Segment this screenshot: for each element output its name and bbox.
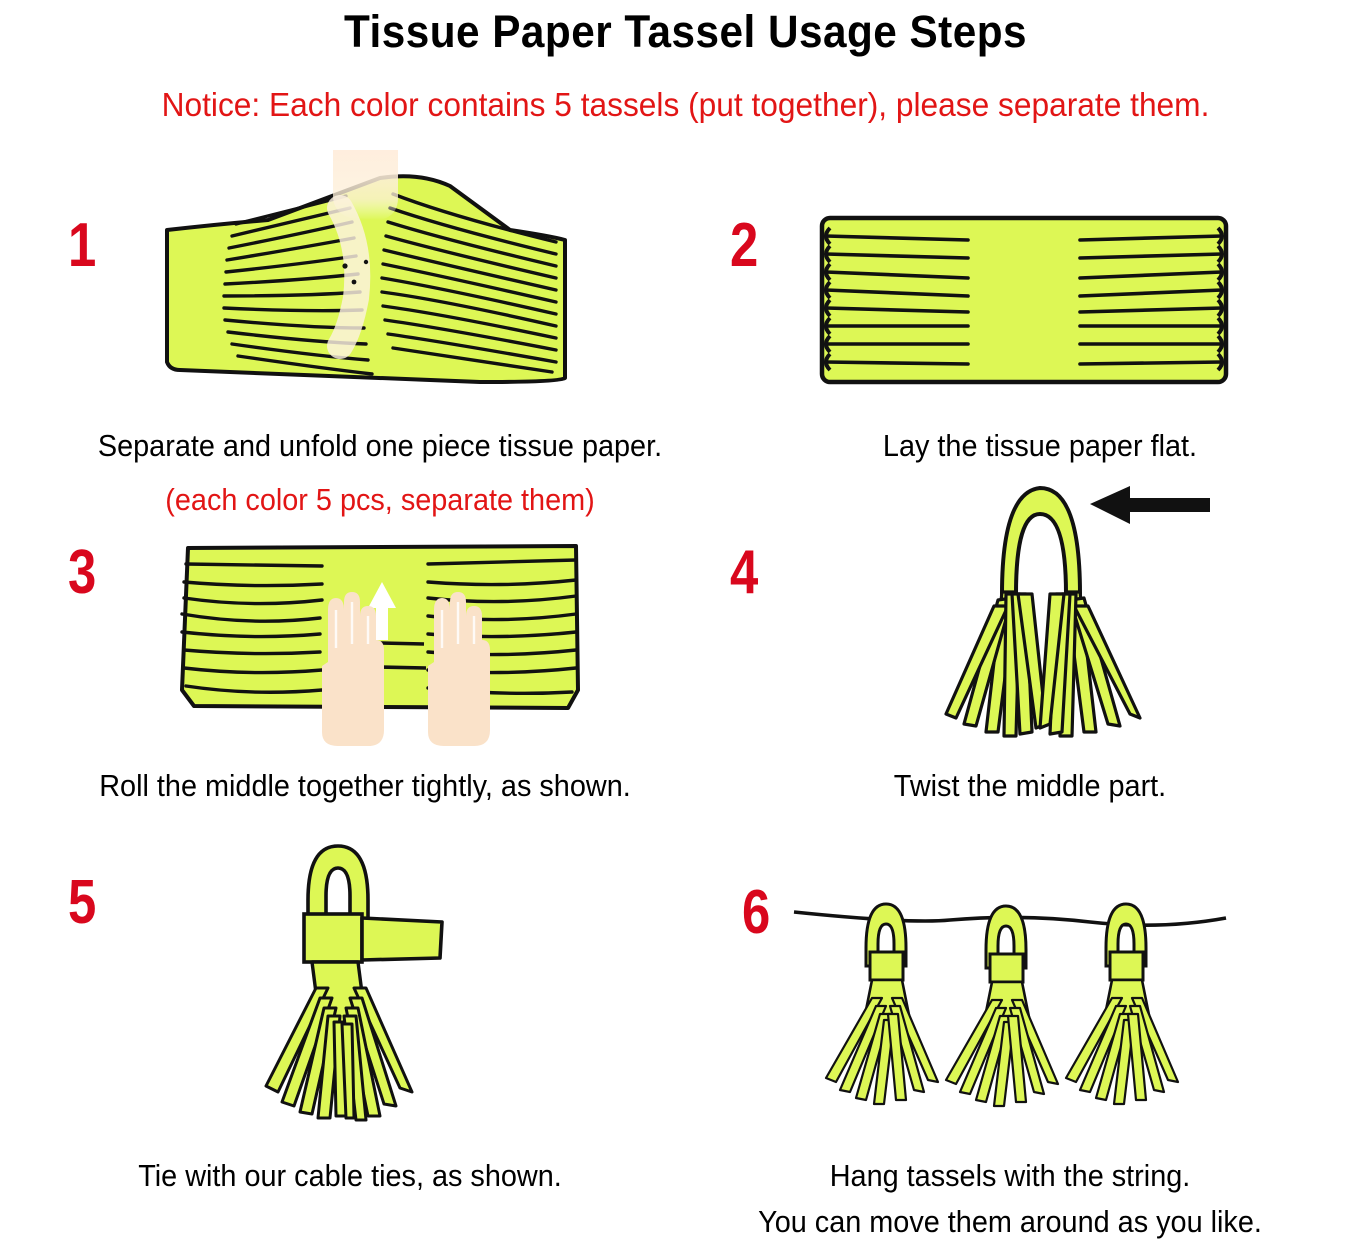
hanging-tassel xyxy=(826,904,938,1104)
step-6-illustration xyxy=(790,890,1230,1120)
hanging-tassel xyxy=(946,906,1058,1106)
step-number-3: 3 xyxy=(68,542,96,604)
step-6-sub-caption: You can move them around as you like. xyxy=(685,1204,1336,1240)
step-4-illustration xyxy=(890,474,1220,754)
hanging-tassel xyxy=(1066,904,1178,1104)
step-1-illustration xyxy=(150,150,580,400)
step-5-caption: Tie with our cable ties, as shown. xyxy=(25,1158,676,1194)
step-number-2: 2 xyxy=(730,215,758,277)
step-number-4: 4 xyxy=(730,542,758,604)
step-4-caption: Twist the middle part. xyxy=(760,768,1299,804)
page-title: Tissue Paper Tassel Usage Steps xyxy=(41,6,1330,58)
notice-text: Notice: Each color contains 5 tassels (p… xyxy=(27,86,1343,124)
instruction-sheet: Tissue Paper Tassel Usage Steps Notice: … xyxy=(0,0,1371,1254)
step-3-caption: Roll the middle together tightly, as sho… xyxy=(26,768,705,804)
cable-tie xyxy=(304,914,442,962)
pointer-arrow-icon xyxy=(1090,486,1210,524)
step-number-6: 6 xyxy=(742,882,770,944)
right-hand-icon xyxy=(428,592,490,746)
step-5-illustration xyxy=(216,838,516,1128)
step-1-sub-caption: (each color 5 pcs, separate them) xyxy=(27,482,734,518)
step-number-1: 1 xyxy=(68,215,96,277)
step-2-caption: Lay the tissue paper flat. xyxy=(780,428,1301,464)
left-hand-icon xyxy=(322,592,384,746)
step-3-illustration xyxy=(172,540,592,752)
step-number-5: 5 xyxy=(68,872,96,934)
step-6-caption: Hang tassels with the string. xyxy=(712,1158,1307,1194)
step-1-caption: Separate and unfold one piece tissue pap… xyxy=(27,428,734,464)
step-2-illustration xyxy=(818,214,1230,386)
